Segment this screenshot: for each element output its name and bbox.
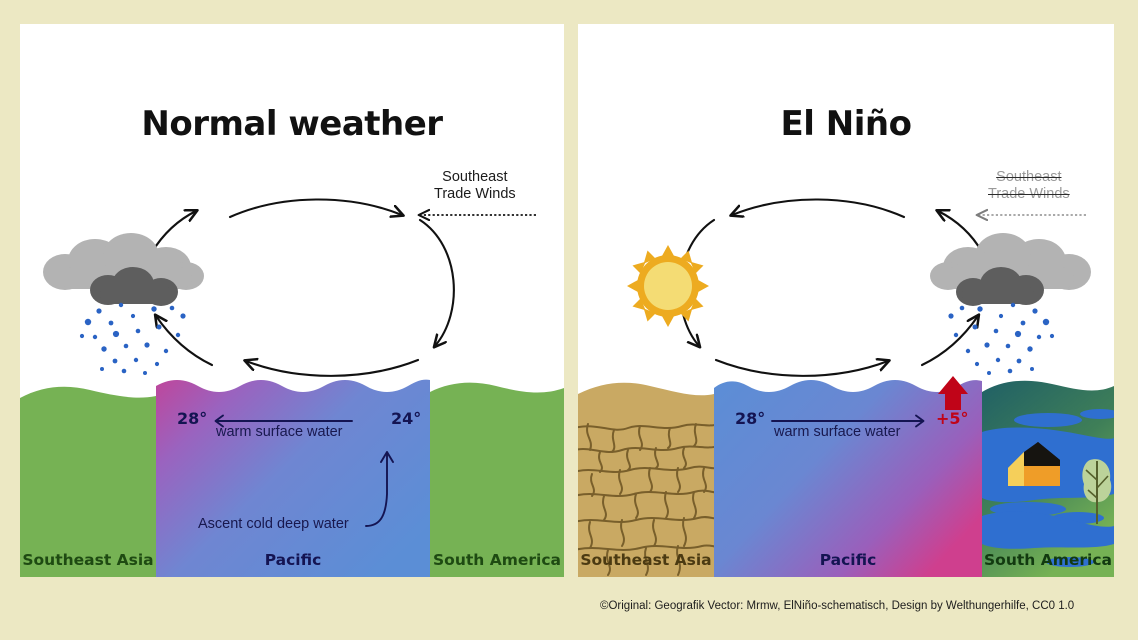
- region-label-south-america-elnino: South America: [982, 551, 1114, 569]
- trade-winds-label-elnino: Southeast Trade Winds: [988, 169, 1070, 202]
- page-title-normal: Normal weather: [20, 104, 564, 144]
- deep-water-label-normal: Ascent cold deep water: [198, 516, 349, 532]
- ocean-water-elnino: [714, 376, 982, 577]
- copyright-credit: ©Original: Geografik Vector: Mrmw, ElNiñ…: [600, 600, 1074, 612]
- temp-left-elnino: 28°: [735, 409, 765, 428]
- region-label-pacific-elnino: Pacific: [714, 551, 982, 569]
- warm-surface-label-normal: warm surface water: [216, 424, 343, 440]
- ocean-water-normal: [156, 376, 430, 577]
- ocean-svg-elnino: [578, 376, 1114, 577]
- panel-normal-weather: Normal weather Southeast Trade Winds: [20, 24, 564, 577]
- temp-right-normal: 24°: [391, 409, 421, 428]
- drought-land-elnino: [578, 376, 718, 577]
- temp-left-normal: 28°: [177, 409, 207, 428]
- panel-el-nino: El Niño Southeast Trade Winds: [578, 24, 1114, 577]
- warm-surface-label-elnino: warm surface water: [774, 424, 901, 440]
- land-southeast-asia-normal: [20, 387, 156, 577]
- trade-winds-line1-struck: Southeast: [996, 169, 1061, 185]
- flood-land-elnino: [982, 376, 1114, 577]
- region-label-southeast-asia-elnino: Southeast Asia: [578, 551, 714, 569]
- ocean-svg-normal: [20, 376, 564, 577]
- trade-winds-line2-struck: Trade Winds: [988, 186, 1070, 202]
- trade-winds-label-normal: Southeast Trade Winds: [434, 169, 516, 202]
- region-label-south-america-normal: South America: [430, 551, 564, 569]
- region-label-pacific-normal: Pacific: [156, 551, 430, 569]
- land-south-america-normal: [430, 383, 564, 577]
- page-title-elnino: El Niño: [578, 104, 1114, 144]
- trade-winds-line1: Southeast: [442, 169, 507, 185]
- trade-winds-line2: Trade Winds: [434, 186, 516, 202]
- temp-right-elnino: +5°: [936, 409, 969, 428]
- ocean-diagram-normal: 28° 24° warm surface water Ascent cold d…: [20, 376, 564, 577]
- region-label-southeast-asia-normal: Southeast Asia: [20, 551, 156, 569]
- ocean-diagram-elnino: 28° +5° warm surface water Southeast Asi…: [578, 376, 1114, 577]
